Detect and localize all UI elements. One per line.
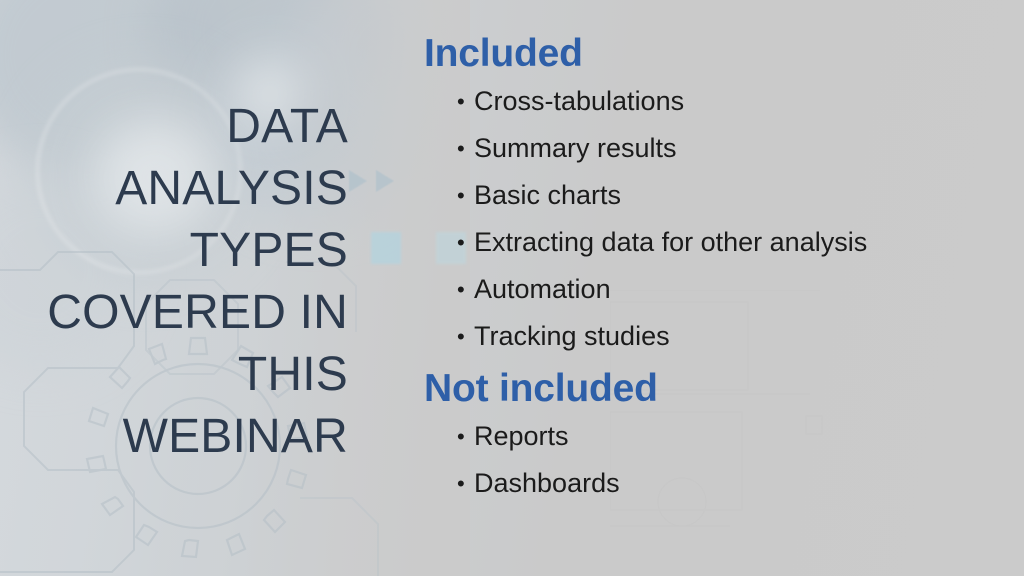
list-item: Dashboards [457,460,1008,507]
arrow-triangle-icon [349,170,367,192]
list-item: Basic charts [457,172,1008,219]
section-heading-not-included: Not included [424,365,1008,413]
section-heading-included: Included [424,30,1008,78]
bullet-list-not-included: Reports Dashboards [424,413,1008,507]
arrow-triangle-icon [376,170,394,192]
list-item: Automation [457,266,1008,313]
page-title: DATA ANALYSIS TYPES COVERED IN THIS WEBI… [20,96,348,468]
bullet-list-included: Cross-tabulations Summary results Basic … [424,78,1008,360]
slide-canvas: DATA ANALYSIS TYPES COVERED IN THIS WEBI… [0,0,1024,576]
content-column: Included Cross-tabulations Summary resul… [424,30,1008,507]
list-item: Extracting data for other analysis [457,219,1008,266]
decorative-square [371,232,401,264]
list-item: Reports [457,413,1008,460]
list-item: Tracking studies [457,313,1008,360]
list-item: Summary results [457,125,1008,172]
list-item: Cross-tabulations [457,78,1008,125]
